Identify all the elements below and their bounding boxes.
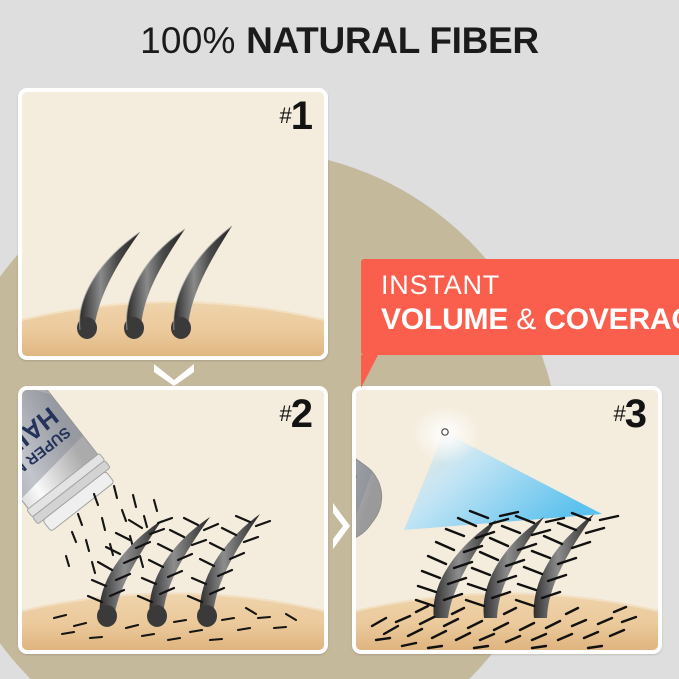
page-title: 100% NATURAL FIBER (0, 20, 679, 62)
step-number-1: #1 (280, 96, 314, 136)
spray-bottle: SUPER HAIR (356, 390, 397, 556)
callout-line-1: INSTANT (381, 270, 500, 301)
step-number-2: #2 (280, 394, 314, 434)
callout-line-2: VOLUME & COVERAGE (381, 303, 679, 337)
callout-ampersand: & (516, 303, 536, 336)
hash-symbol: # (614, 401, 625, 426)
hash-symbol: # (280, 401, 291, 426)
step-panel-1: #1 (18, 88, 328, 360)
hash-symbol: # (280, 103, 291, 128)
infographic-canvas: 100% NATURAL FIBER (0, 0, 679, 679)
chevron-right-icon (330, 500, 354, 552)
callout-tail (361, 355, 378, 388)
instant-volume-callout: INSTANT VOLUME & COVERAGE (361, 259, 679, 355)
callout-coverage: COVERAGE (544, 303, 679, 336)
callout-volume: VOLUME (381, 303, 508, 336)
title-main: NATURAL FIBER (246, 20, 539, 61)
step-index: 1 (291, 94, 313, 138)
fiber-shaker-bottle: SUPER MILLION HAIR (22, 390, 119, 557)
step-panel-3: SUPER HAIR (352, 386, 662, 654)
step-panel-2: SUPER MILLION HAIR (18, 386, 328, 654)
step-number-3: #3 (614, 394, 648, 434)
chevron-down-icon (150, 360, 198, 386)
step-index: 2 (291, 392, 313, 436)
nozzle-glow (410, 404, 482, 464)
title-percent: 100% (140, 20, 235, 61)
step-index: 3 (625, 392, 647, 436)
